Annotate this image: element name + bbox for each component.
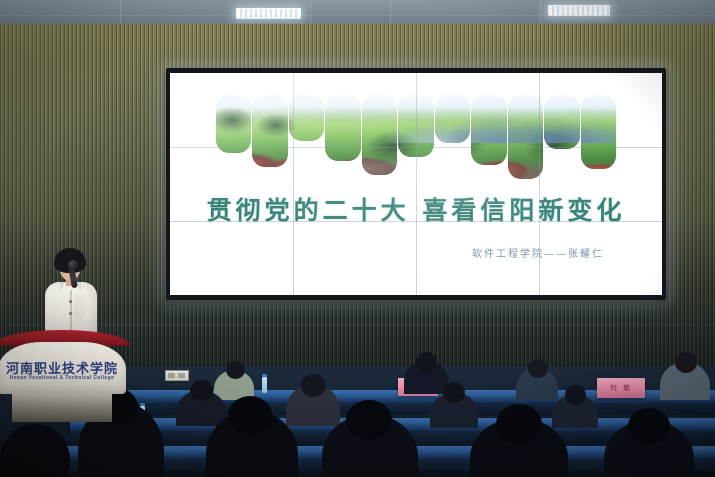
podium-college-name-en: Henan Vocational & Technical College bbox=[0, 375, 126, 381]
audience-head bbox=[416, 352, 437, 372]
speaking-podium: 河南职业技术学院 Henan Vocational & Technical Co… bbox=[0, 330, 130, 420]
audience-head bbox=[301, 374, 326, 397]
panel-seam-vertical bbox=[539, 73, 540, 295]
audience-head bbox=[226, 361, 245, 379]
panel-seam-horizontal bbox=[170, 147, 662, 148]
wall-trim-line bbox=[0, 324, 715, 325]
audience-head bbox=[675, 352, 697, 373]
ceiling-light-icon bbox=[548, 5, 610, 16]
ceiling-tile-seam bbox=[390, 0, 391, 26]
audience-member bbox=[0, 424, 70, 477]
panel-seam-vertical bbox=[293, 73, 294, 295]
microphone-head-icon bbox=[68, 260, 78, 270]
audience-head bbox=[443, 382, 465, 403]
audience-head bbox=[528, 359, 548, 378]
ceiling bbox=[0, 0, 715, 26]
panel-seam-vertical bbox=[416, 73, 417, 295]
ceiling-tile-seam bbox=[310, 0, 311, 26]
audience-head bbox=[228, 396, 272, 434]
wall-socket bbox=[165, 370, 189, 381]
audience-head bbox=[190, 380, 213, 401]
ceiling-tile-seam bbox=[120, 0, 121, 26]
presentation-slide: 贯彻党的二十大 喜看信阳新变化 软件工程学院——张耀仁 bbox=[170, 73, 662, 295]
podium-base bbox=[12, 392, 112, 422]
audience-head bbox=[496, 404, 542, 444]
audience-head bbox=[628, 408, 670, 444]
ceiling-light-icon bbox=[236, 8, 301, 19]
speaker-shirt-button bbox=[69, 312, 72, 315]
ceiling-tile-seam bbox=[540, 0, 541, 26]
water-bottle bbox=[262, 377, 267, 393]
video-wall-display[interactable]: 贯彻党的二十大 喜看信阳新变化 软件工程学院——张耀仁 bbox=[166, 68, 666, 300]
audience-head bbox=[346, 400, 392, 440]
podium-front-panel: 河南职业技术学院 Henan Vocational & Technical Co… bbox=[0, 342, 126, 394]
speaker-collar-left bbox=[60, 282, 65, 292]
lecture-hall-scene: 贯彻党的二十大 喜看信阳新变化 软件工程学院——张耀仁 河南职 bbox=[0, 0, 715, 477]
slide-subtitle: 软件工程学院——张耀仁 bbox=[472, 245, 604, 260]
audience-head bbox=[565, 385, 586, 405]
panel-seam-horizontal bbox=[170, 221, 662, 222]
speaker-shirt-button bbox=[69, 300, 72, 303]
name-card: 何 敏 bbox=[597, 378, 645, 398]
